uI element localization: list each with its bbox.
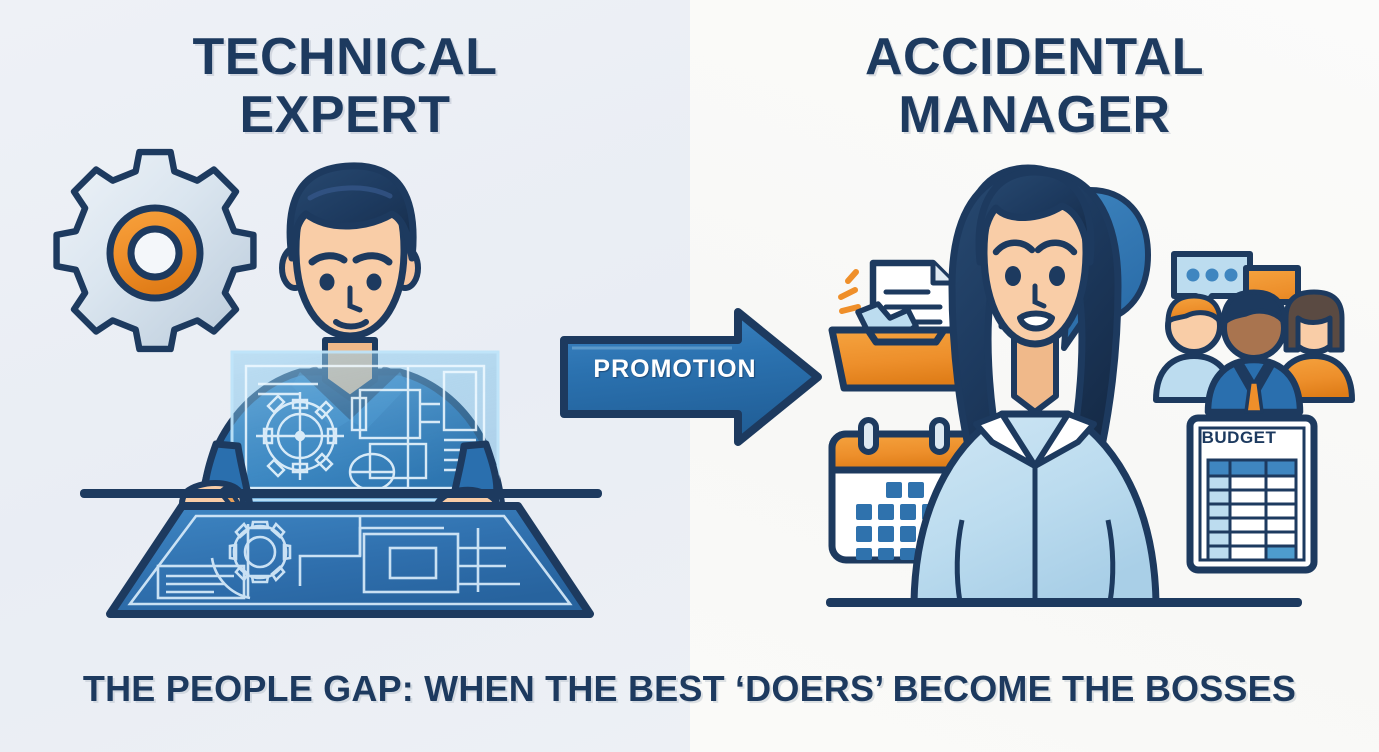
- infographic-canvas: PROMOTION BUDGET TECHNICALEXPERT ACCIDEN…: [0, 0, 1379, 752]
- desk-line-right: [826, 598, 1302, 607]
- promotion-arrow: [556, 306, 826, 448]
- gear-icon: [57, 152, 254, 349]
- title-line: ACCIDENTALMANAGER: [690, 28, 1379, 144]
- blueprint-table: [110, 506, 590, 614]
- team-people-icon: [1156, 254, 1352, 412]
- panel-title-technical-expert: TECHNICALEXPERT: [0, 28, 690, 144]
- desk-line-left: [80, 489, 602, 498]
- bottom-caption: THE PEOPLE GAP: WHEN THE BEST ‘DOERS’ BE…: [0, 668, 1379, 710]
- budget-sheet-icon: [1190, 418, 1314, 570]
- title-line: TECHNICALEXPERT: [0, 28, 690, 144]
- panel-title-accidental-manager: ACCIDENTALMANAGER: [690, 28, 1379, 144]
